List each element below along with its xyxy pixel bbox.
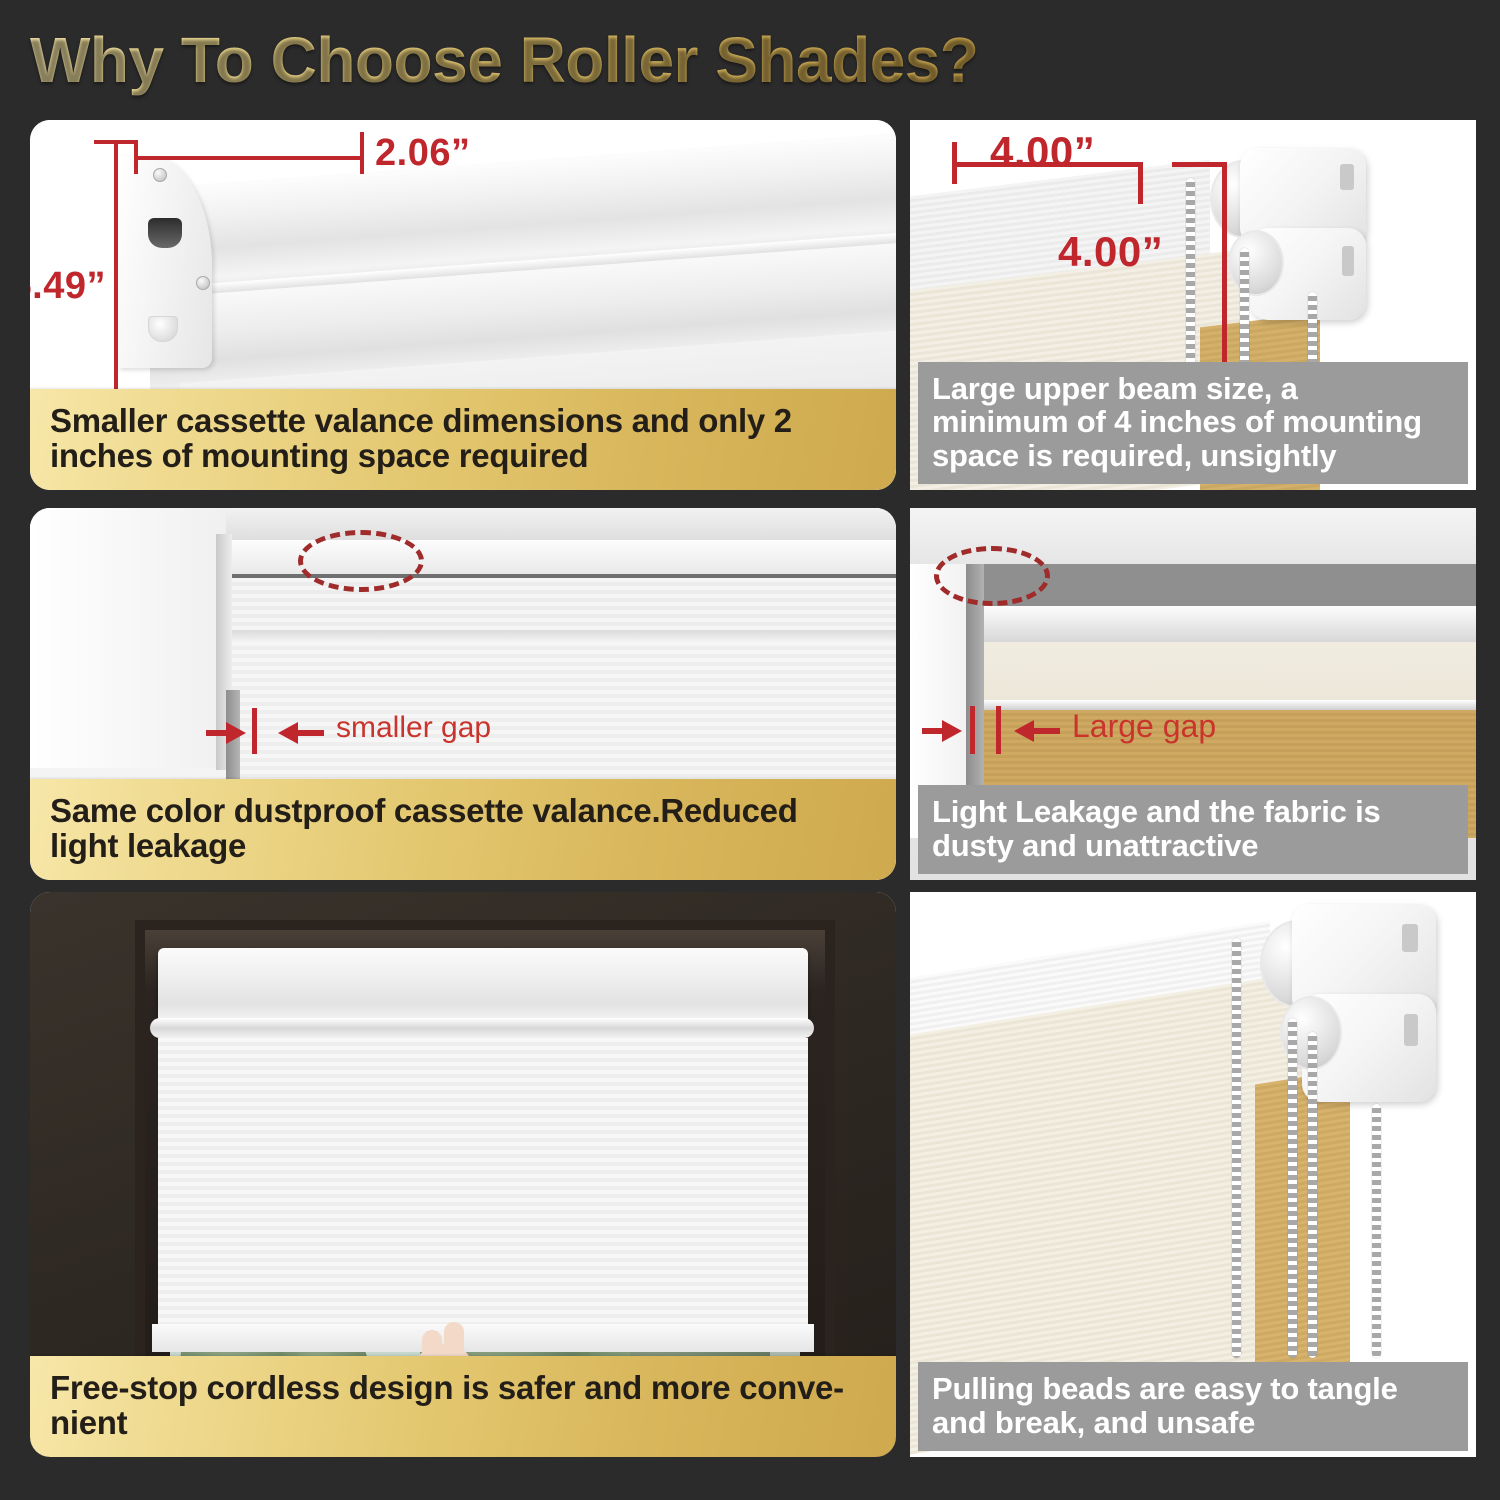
screw-icon: [153, 168, 167, 182]
gap-arrow-stem: [922, 728, 946, 734]
beam-face: [910, 606, 1476, 642]
caption-line: nient: [50, 1405, 878, 1441]
panel-cassette-dimensions: 2.06” 5.49” Smaller cassette valance dim…: [30, 120, 896, 490]
panel-large-beam: 4.00” 4.00” Large upper beam size, a min…: [910, 120, 1476, 490]
panel-pulling-beads: Pulling beads are easy to tangle and bre…: [910, 892, 1476, 1457]
bead-chain[interactable]: [1372, 1104, 1381, 1358]
screw-icon: [196, 276, 210, 290]
shade-rail: [232, 630, 896, 642]
window-frame-left: [30, 508, 226, 768]
bead-chain[interactable]: [1232, 938, 1241, 1358]
endcap-slot-icon: [148, 218, 182, 248]
bracket-notch: [1342, 246, 1354, 276]
gap-label: smaller gap: [336, 711, 491, 745]
caption-line: minimum of 4 inches of mounting: [932, 405, 1456, 438]
beam-width-tick-left: [952, 142, 957, 184]
beam-width-label: 4.00”: [990, 128, 1095, 176]
gap-tick: [252, 708, 257, 754]
bracket-notch: [1402, 924, 1418, 952]
caption-line: and break, and unsafe: [932, 1406, 1456, 1439]
gap-tick-right: [996, 706, 1001, 754]
cassette-valance-head: [158, 948, 808, 1023]
caption-line: inches of mounting space required: [50, 438, 878, 474]
caption-panel-6: Pulling beads are easy to tangle and bre…: [918, 1362, 1468, 1451]
endcap-knob-icon: [148, 316, 178, 342]
gap-arrow-left-icon: [278, 722, 298, 744]
height-tick-top: [94, 140, 134, 144]
gap-arrow-left-icon: [1014, 720, 1034, 742]
bead-chain[interactable]: [1288, 1018, 1297, 1358]
width-tick-left: [134, 140, 138, 174]
shade-fabric: [158, 1038, 808, 1338]
panel-smaller-gap: smaller gap Same color dustproof cassett…: [30, 508, 896, 880]
page-title: Why To Choose Roller Shades?: [30, 23, 978, 97]
shade-fabric-lower: [232, 642, 896, 782]
shade-fabric-cream: [910, 642, 1476, 700]
width-tick-right: [360, 132, 364, 174]
height-dimension-label: 5.49”: [30, 265, 106, 308]
gap-arrow-stem: [206, 730, 230, 736]
bracket-notch: [1340, 164, 1354, 190]
width-dimension-label: 2.06”: [375, 132, 470, 175]
highlight-ellipse: [934, 546, 1050, 606]
gap-label: Large gap: [1072, 708, 1216, 745]
caption-panel-2: Large upper beam size, a minimum of 4 in…: [918, 362, 1468, 484]
header: Why To Choose Roller Shades?: [30, 14, 1130, 106]
caption-line: Free-stop cordless design is safer and m…: [50, 1370, 878, 1406]
valance-rail: [150, 1018, 814, 1038]
caption-line: space is required, unsightly: [932, 439, 1456, 472]
gap-arrow-stem: [1034, 728, 1060, 734]
beam-height-label: 4.00”: [1058, 228, 1163, 276]
bracket-notch: [1404, 1014, 1418, 1046]
gap-tick-left: [970, 706, 975, 754]
roller-end-cap-lower: [1228, 230, 1284, 296]
caption-line: Smaller cassette valance dimensions and …: [50, 403, 878, 439]
caption-line: light leakage: [50, 828, 878, 864]
panel-large-gap: Large gap Light Leakage and the fabric i…: [910, 508, 1476, 880]
caption-panel-5: Free-stop cordless design is safer and m…: [30, 1356, 896, 1457]
caption-panel-1: Smaller cassette valance dimensions and …: [30, 389, 896, 490]
beam-width-tick-right: [1138, 162, 1143, 204]
highlight-ellipse: [298, 530, 424, 592]
caption-panel-4: Light Leakage and the fabric is dusty an…: [918, 785, 1468, 874]
beam-height-tick-top: [1172, 162, 1227, 167]
caption-line: Large upper beam size, a: [932, 372, 1456, 405]
panel-cordless-design: Free-stop cordless design is safer and m…: [30, 892, 896, 1457]
bead-chain[interactable]: [1308, 1032, 1317, 1358]
gap-arrow-stem: [298, 730, 324, 736]
caption-line: Light Leakage and the fabric is: [932, 795, 1456, 828]
shade-bottom-rail[interactable]: [152, 1324, 814, 1352]
caption-panel-3: Same color dustproof cassette valance.Re…: [30, 779, 896, 880]
caption-line: dusty and unattractive: [932, 829, 1456, 862]
width-dimension-line: [134, 156, 364, 160]
caption-line: Pulling beads are easy to tangle: [932, 1372, 1456, 1405]
caption-line: Same color dustproof cassette valance.Re…: [50, 793, 878, 829]
